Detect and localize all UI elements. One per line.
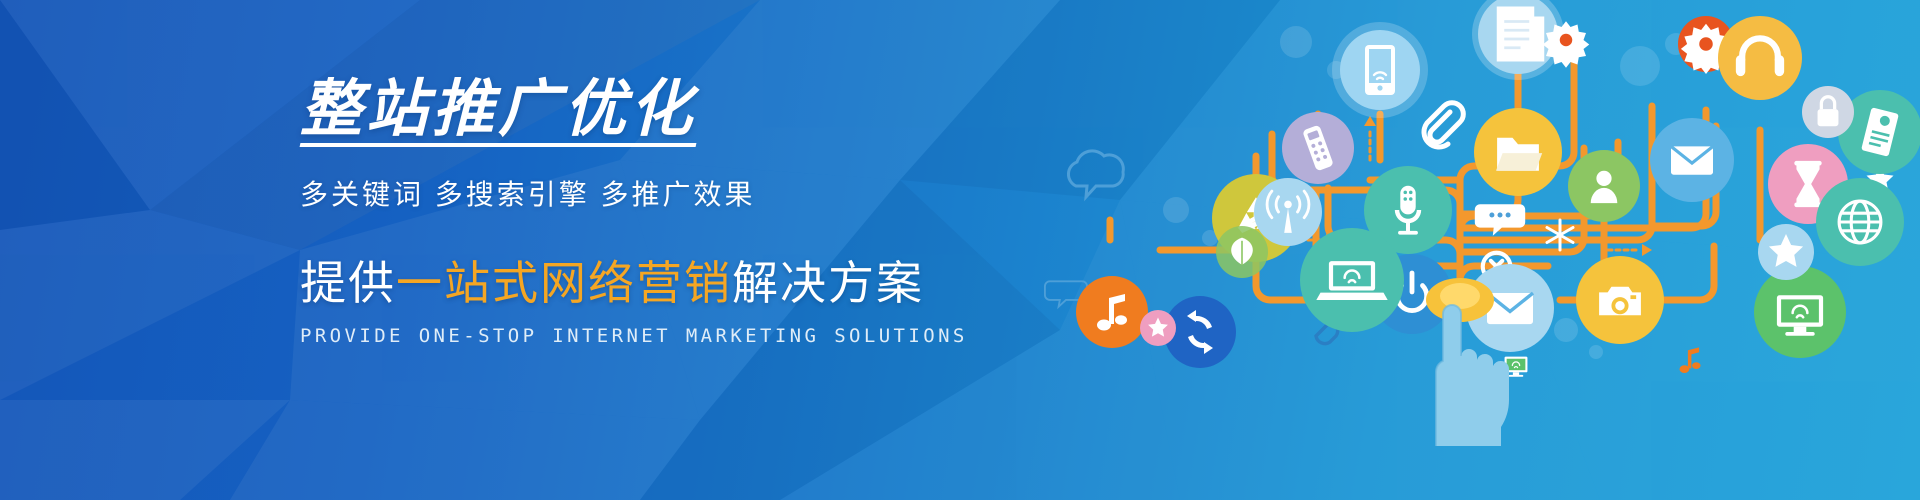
node-monitor-icon xyxy=(1754,266,1846,358)
tagline-tail: 解决方案 xyxy=(732,257,924,309)
node-globe-icon xyxy=(1816,178,1904,266)
banner-copy: 整站推广优化 多关键词 多搜索引擎 多推广效果 提供一站式网络营销解决方案 PR… xyxy=(300,78,1080,347)
node-wifi-tower-icon xyxy=(1254,178,1322,246)
node-remote-control-icon xyxy=(1282,112,1354,184)
banner-tagline: 提供一站式网络营销解决方案 xyxy=(300,247,1080,313)
node-music-note-icon xyxy=(1076,276,1148,348)
node-pink-badge-icon xyxy=(1140,310,1176,346)
icon-music-note-small xyxy=(1680,347,1701,373)
node-camera-icon xyxy=(1576,256,1664,344)
node-user-icon xyxy=(1568,150,1640,222)
headline-group: 整站推广优化 xyxy=(300,78,696,147)
tagline-highlight: 一站式网络营销 xyxy=(396,257,732,309)
node-laptop-wifi-icon xyxy=(1300,228,1404,332)
node-folder-icon xyxy=(1474,108,1562,196)
node-envelope-icon xyxy=(1650,118,1734,202)
banner-subline: 多关键词 多搜索引擎 多推广效果 xyxy=(300,173,1080,213)
tagline-lead: 提供 xyxy=(300,257,396,309)
headline-underline xyxy=(300,143,697,147)
promo-banner: 整站推广优化 多关键词 多搜索引擎 多推广效果 提供一站式网络营销解决方案 PR… xyxy=(0,0,1920,500)
banner-english-subtitle: PROVIDE ONE-STOP INTERNET MARKETING SOLU… xyxy=(300,325,1080,347)
node-lock-icon xyxy=(1802,86,1854,138)
node-smartphone-wifi-icon xyxy=(1332,22,1428,118)
node-star-icon xyxy=(1758,224,1814,280)
illustration-icon-tree xyxy=(1000,0,1920,500)
node-headphones-icon xyxy=(1718,16,1802,100)
page-title: 整站推广优化 xyxy=(300,78,696,145)
node-leaf-icon xyxy=(1216,226,1268,278)
node-paperclip-icon xyxy=(1424,103,1463,147)
